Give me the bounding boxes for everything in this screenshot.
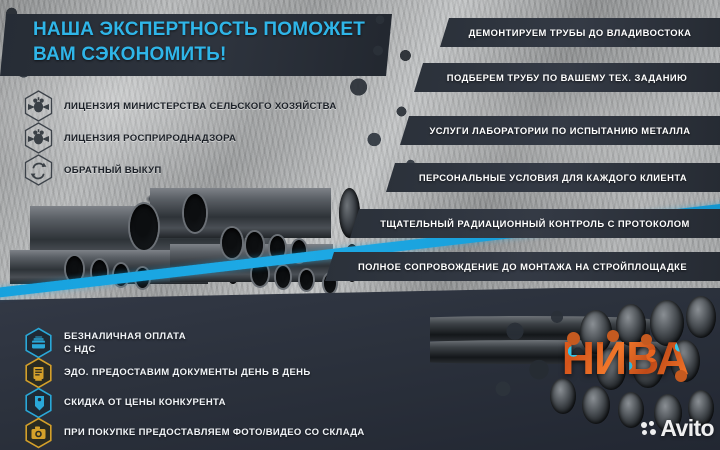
advertisement-banner: НАША ЭКСПЕРТНОСТЬ ПОМОЖЕТ ВАМ СЭКОНОМИТЬ… [0, 0, 720, 450]
benefit-label-line-1: БЕЗНАЛИЧНАЯ ОПЛАТА [64, 330, 186, 343]
feature-label: ЛИЦЕНЗИЯ МИНИСТЕРСТВА СЕЛЬСКОГО ХОЗЯЙСТВ… [64, 101, 337, 112]
eagle-emblem-icon [24, 90, 53, 122]
pipe-bore-13 [300, 270, 313, 290]
avito-dots-icon [641, 421, 656, 437]
eagle-emblem-icon [24, 122, 53, 154]
service-banner-3: ПЕРСОНАЛЬНЫЕ УСЛОВИЯ ДЛЯ КАЖДОГО КЛИЕНТА [386, 163, 720, 192]
feature-row-buyback: ОБРАТНЫЙ ВЫКУП [24, 154, 162, 186]
service-banner-5: ПОЛНОЕ СОПРОВОЖДЕНИЕ ДО МОНТАЖА НА СТРОЙ… [325, 252, 720, 281]
feature-row-license-agriculture: ЛИЦЕНЗИЯ МИНИСТЕРСТВА СЕЛЬСКОГО ХОЗЯЙСТВ… [24, 90, 337, 122]
service-banner-4: ТЩАТЕЛЬНЫЙ РАДИАЦИОННЫЙ КОНТРОЛЬ С ПРОТО… [350, 209, 720, 238]
feature-label: ЛИЦЕНЗИЯ РОСПРИРОДНАДЗОРА [64, 133, 236, 144]
pipe-bore-8 [246, 232, 263, 258]
pipe-ring-9 [582, 386, 610, 424]
benefit-label: БЕЗНАЛИЧНАЯ ОПЛАТА С НДС [64, 330, 186, 357]
benefit-row-discount: СКИДКА ОТ ЦЕНЫ КОНКУРЕНТА [24, 387, 226, 419]
pipe-bore-12 [276, 266, 290, 288]
camera-icon [24, 417, 53, 449]
avito-watermark: Avito [641, 415, 714, 442]
service-banner-1: ПОДБЕРЕМ ТРУБУ ПО ВАШЕМУ ТЕХ. ЗАДАНИЮ [414, 63, 720, 92]
feature-label: ОБРАТНЫЙ ВЫКУП [64, 165, 162, 176]
headline-line-1: НАША ЭКСПЕРТНОСТЬ ПОМОЖЕТ [33, 17, 393, 42]
benefit-label: ПРИ ПОКУПКЕ ПРЕДОСТАВЛЯЕМ ФОТО/ВИДЕО СО … [64, 426, 365, 439]
document-icon [24, 357, 53, 389]
benefit-row-edo: ЭДО. ПРЕДОСТАВИМ ДОКУМЕНТЫ ДЕНЬ В ДЕНЬ [24, 357, 311, 389]
feature-row-license-rospriroda: ЛИЦЕНЗИЯ РОСПРИРОДНАДЗОРА [24, 122, 236, 154]
page-title: НАША ЭКСПЕРТНОСТЬ ПОМОЖЕТ ВАМ СЭКОНОМИТЬ… [33, 17, 393, 68]
company-logo: НИВА [549, 330, 701, 386]
headline-line-2: ВАМ СЭКОНОМИТЬ! [33, 42, 393, 67]
service-banner-0: ДЕМОНТИРУЕМ ТРУБЫ ДО ВЛАДИВОСТОКА [440, 18, 720, 47]
benefit-row-photo-video: ПРИ ПОКУПКЕ ПРЕДОСТАВЛЯЕМ ФОТО/ВИДЕО СО … [24, 417, 365, 449]
benefit-label-line-2: С НДС [64, 343, 186, 356]
pipe-large-2 [150, 188, 360, 238]
benefit-label: СКИДКА ОТ ЦЕНЫ КОНКУРЕНТА [64, 396, 226, 409]
payment-card-icon [24, 327, 53, 359]
pipe-bore-2 [184, 194, 206, 232]
pipe-bore-7 [222, 228, 242, 258]
benefit-row-payment: БЕЗНАЛИЧНАЯ ОПЛАТА С НДС [24, 327, 186, 359]
avito-wordmark: Avito [660, 415, 714, 442]
pipe-bore-1 [130, 204, 158, 250]
service-banner-2: УСЛУГИ ЛАБОРАТОРИИ ПО ИСПЫТАНИЮ МЕТАЛЛА [400, 116, 720, 145]
pipe-ring-10 [618, 392, 644, 428]
buyback-arrows-icon [24, 154, 53, 186]
benefit-label: ЭДО. ПРЕДОСТАВИМ ДОКУМЕНТЫ ДЕНЬ В ДЕНЬ [64, 366, 311, 379]
price-tag-icon [24, 387, 53, 419]
